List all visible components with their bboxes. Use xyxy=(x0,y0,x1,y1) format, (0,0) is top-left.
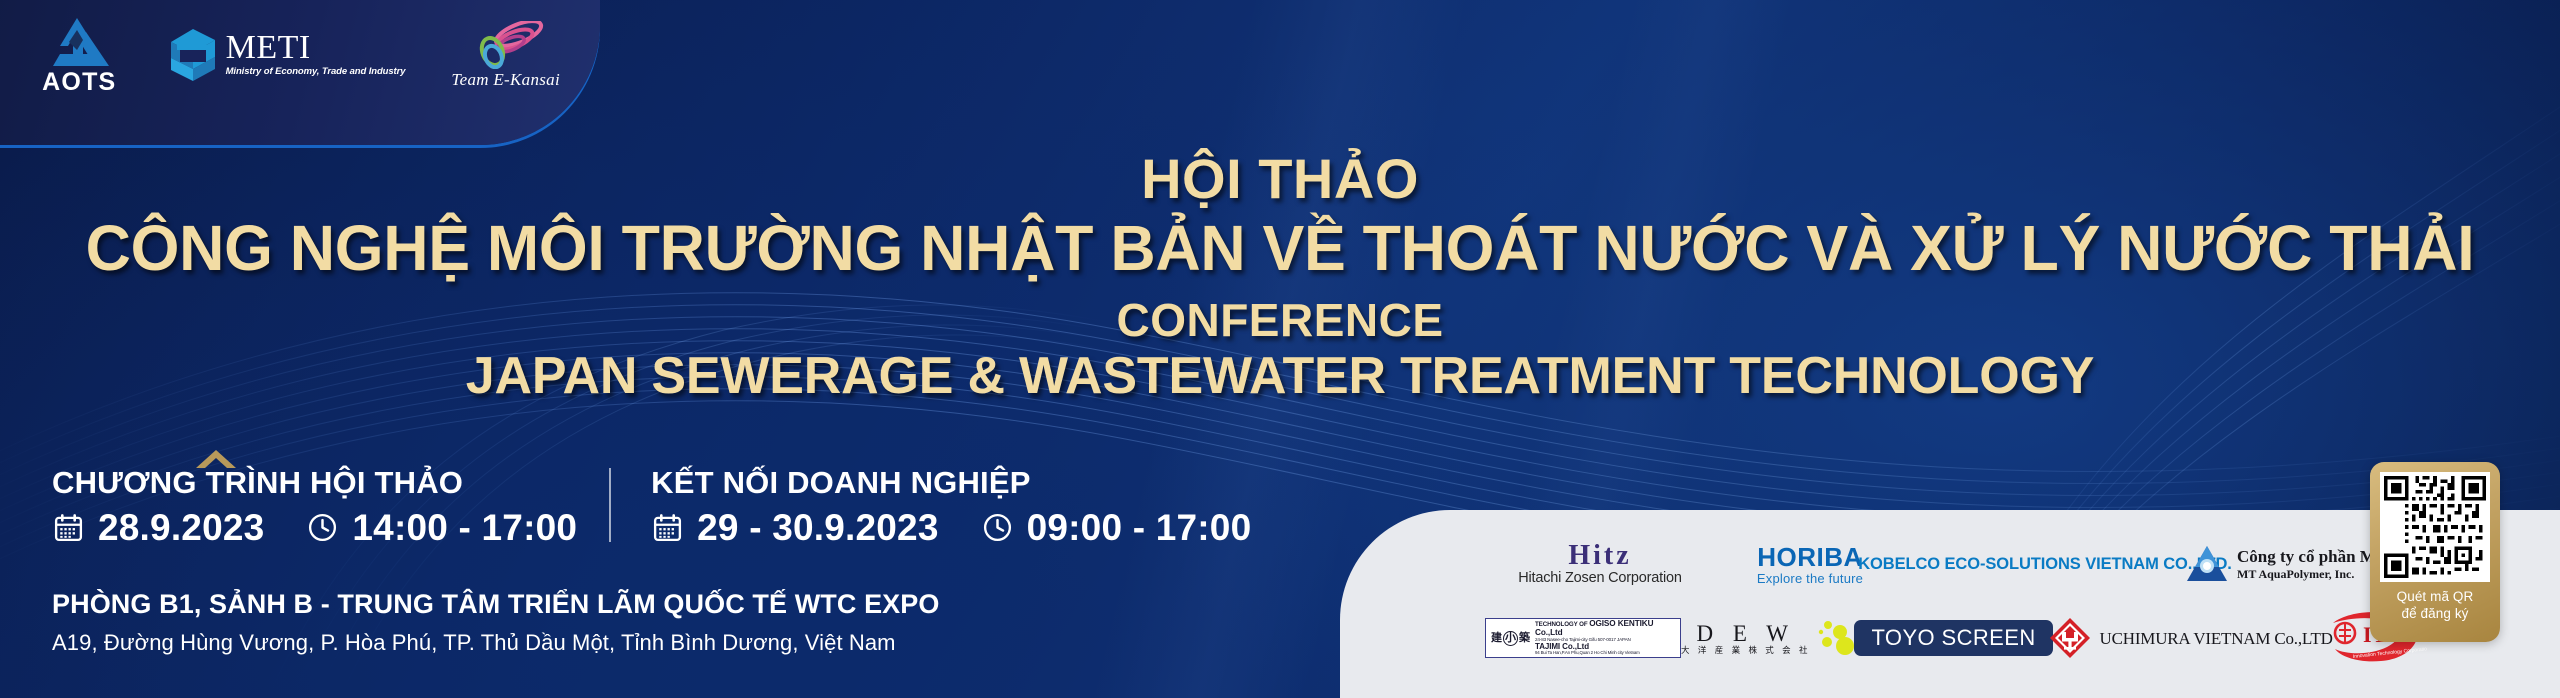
toyo-screen-wordmark: TOYO SCREEN xyxy=(1871,626,2035,649)
schedule-block: CHƯƠNG TRÌNH HỘI THẢO 28.9.2023 xyxy=(52,466,1251,546)
aots-wordmark: AOTS xyxy=(42,70,116,95)
aots-mark-icon xyxy=(47,16,111,68)
hitz-subtitle: Hitachi Zosen Corporation xyxy=(1518,571,1681,586)
schedule-heading: CHƯƠNG TRÌNH HỘI THẢO xyxy=(52,466,577,500)
clock-icon xyxy=(981,511,1014,544)
schedule-date: 29 - 30.9.2023 xyxy=(697,509,938,546)
sponsor-logo-uchimura: UCHIMURA VIETNAM Co.,LTD xyxy=(2049,617,2319,659)
qr-code-icon[interactable] xyxy=(2380,472,2490,582)
title-block: HỘI THẢO CÔNG NGHỆ MÔI TRƯỜNG NHẬT BẢN V… xyxy=(0,150,2560,406)
schedule-item-business-matching: KẾT NỐI DOANH NGHIỆP 29 - 30.9.202 xyxy=(611,466,1251,546)
calendar-icon xyxy=(52,511,85,544)
organiser-logo-panel: AOTS METI Ministry of Economy, Trade and… xyxy=(0,0,600,145)
title-kicker-vi: HỘI THẢO xyxy=(0,150,2560,207)
calendar-icon xyxy=(651,511,684,544)
venue-address: A19, Đường Hùng Vương, P. Hòa Phú, TP. T… xyxy=(52,629,940,657)
aquapolymer-mark-icon xyxy=(2185,544,2229,584)
meti-wordmark: METI xyxy=(226,32,406,64)
sponsor-logo-toyo-screen: TOYO SCREEN xyxy=(1859,620,2049,655)
qr-caption: Quét mã QR để đăng ký xyxy=(2397,589,2474,623)
dewx-dots-icon xyxy=(1815,618,1859,658)
ogiso-kanji-mark-icon: 建小築 xyxy=(1491,631,1530,646)
uchimura-wordmark: UCHIMURA VIETNAM Co.,LTD xyxy=(2100,630,2333,647)
qr-caption-line1: Quét mã QR xyxy=(2397,589,2474,604)
dewx-subtitle: 大 洋 産 業 株 式 会 社 xyxy=(1681,646,1811,655)
team-e-kansai-mark-icon xyxy=(464,21,548,69)
schedule-time: 14:00 - 17:00 xyxy=(352,509,577,546)
conference-banner: AOTS METI Ministry of Economy, Trade and… xyxy=(0,0,2560,698)
sponsor-row-2: 建小築 TECHNOLOGY OF OGISO KENTIKU Co.,Ltd … xyxy=(1485,602,2415,674)
logo-team-e-kansai: Team E-Kansai xyxy=(451,21,560,90)
horiba-subtitle: Explore the future xyxy=(1757,572,1863,585)
schedule-date: 28.9.2023 xyxy=(98,509,264,546)
meti-mark-icon xyxy=(169,28,217,82)
kobelco-wordmark: KOBELCO ECO-SOLUTIONS VIETNAM CO.,LTD. xyxy=(1858,556,2232,573)
logo-aots: AOTS xyxy=(36,16,123,95)
sponsor-logo-hitz: Hitz Hitachi Zosen Corporation xyxy=(1485,542,1715,586)
clock-icon xyxy=(306,511,339,544)
team-e-kansai-wordmark: Team E-Kansai xyxy=(451,70,560,90)
dewx-wordmark: D E W xyxy=(1697,622,1795,645)
title-main-en: JAPAN SEWERAGE & WASTEWATER TREATMENT TE… xyxy=(0,347,2560,405)
hitz-wordmark: Hitz xyxy=(1568,542,1631,570)
sponsor-row-1: Hitz Hitachi Zosen Corporation HORIBA Ex… xyxy=(1485,528,2415,600)
sponsor-logo-kobelco: KOBELCO ECO-SOLUTIONS VIETNAM CO.,LTD. xyxy=(1905,556,2185,573)
schedule-heading: KẾT NỐI DOANH NGHIỆP xyxy=(651,466,1251,500)
sponsor-logo-dewx: D E W 大 洋 産 業 株 式 会 社 xyxy=(1681,618,1859,658)
meti-subtitle: Ministry of Economy, Trade and Industry xyxy=(226,66,406,77)
sponsor-logo-ogiso-tajimi: 建小築 TECHNOLOGY OF OGISO KENTIKU Co.,Ltd … xyxy=(1485,618,1681,658)
venue-block: PHÒNG B1, SẢNH B - TRUNG TÂM TRIỂN LÃM Q… xyxy=(52,588,940,657)
horiba-wordmark: HORIBA xyxy=(1757,544,1863,570)
logo-meti: METI Ministry of Economy, Trade and Indu… xyxy=(169,28,406,82)
schedule-time: 09:00 - 17:00 xyxy=(1027,509,1252,546)
qr-caption-line2: để đăng ký xyxy=(2401,606,2468,621)
venue-name: PHÒNG B1, SẢNH B - TRUNG TÂM TRIỂN LÃM Q… xyxy=(52,588,940,620)
schedule-item-conference: CHƯƠNG TRÌNH HỘI THẢO 28.9.2023 xyxy=(52,466,577,546)
title-main-vi: CÔNG NGHỆ MÔI TRƯỜNG NHẬT BẢN VỀ THOÁT N… xyxy=(26,213,2535,285)
qr-registration-card[interactable]: Quét mã QR để đăng ký xyxy=(2370,462,2500,642)
title-kicker-en: CONFERENCE xyxy=(0,295,2560,346)
uchimura-mark-icon xyxy=(2049,617,2091,659)
ogiso-line4: 94 Bui Ta Han,P.An Phu,Quan 2 Ho Chi Min… xyxy=(1535,651,1675,656)
